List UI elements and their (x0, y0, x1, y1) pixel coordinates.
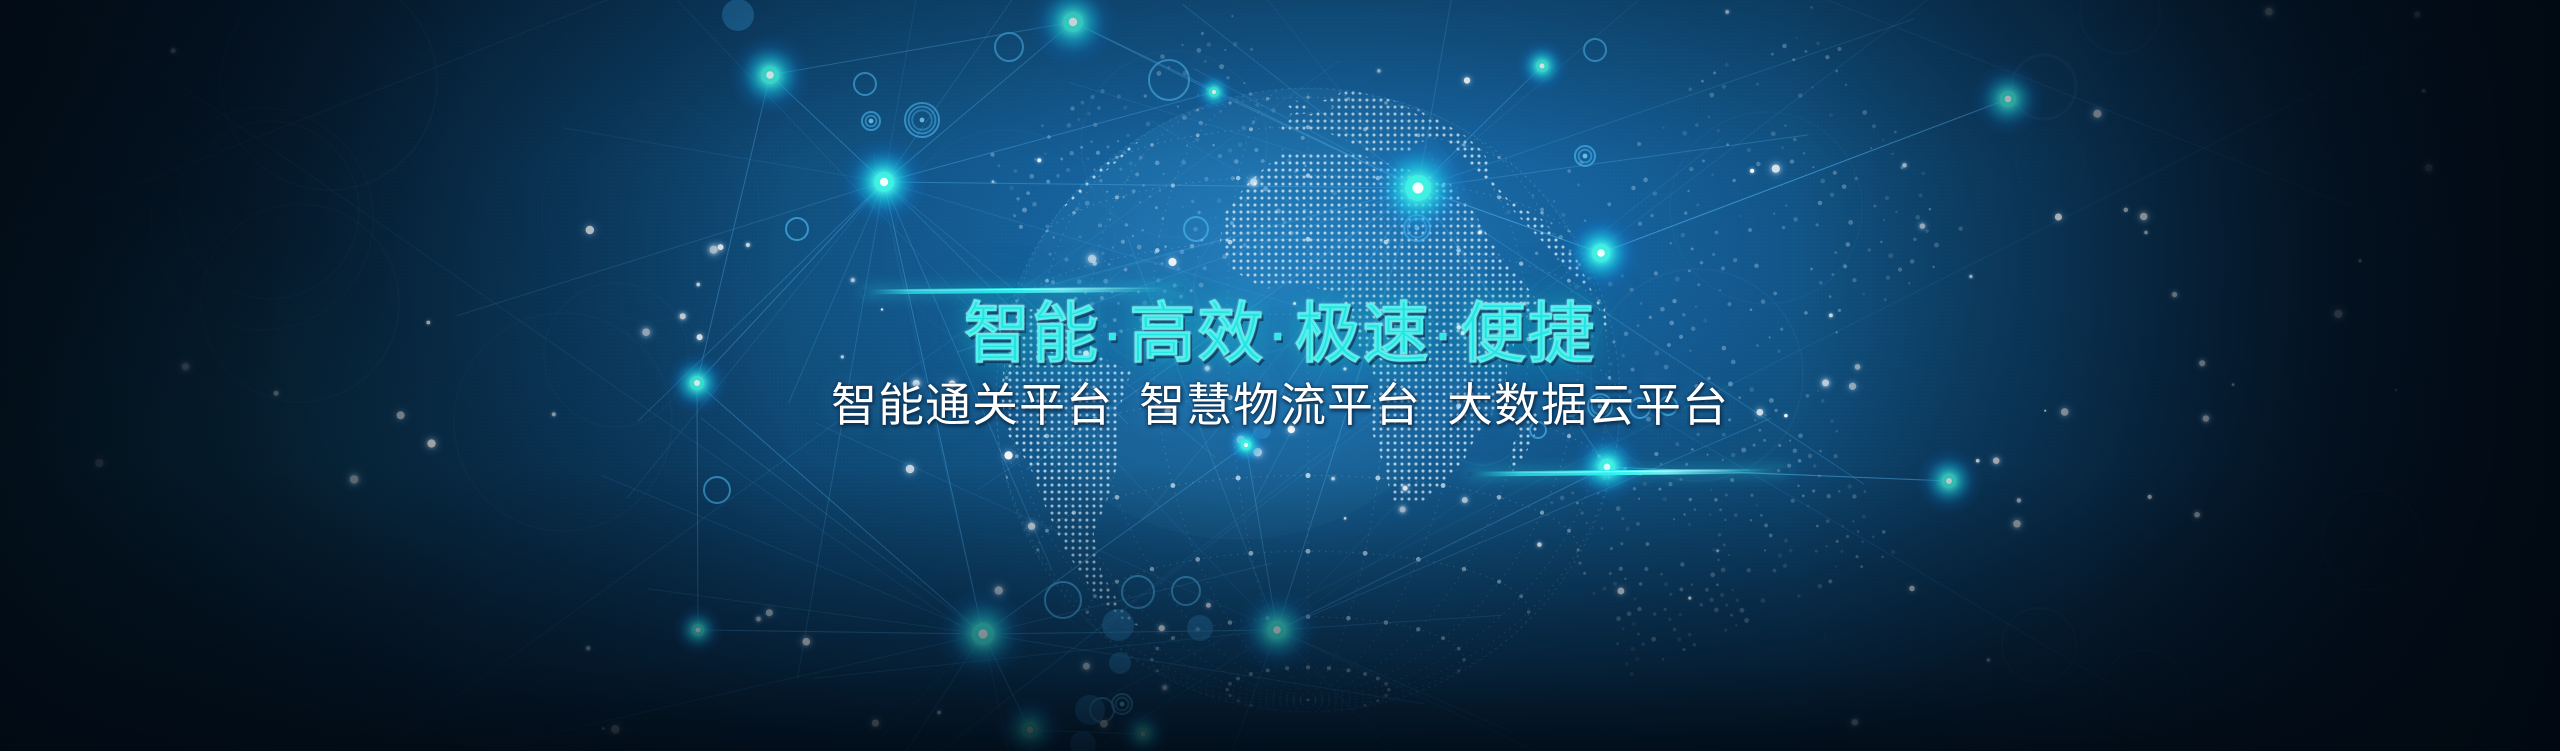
ring-marker-5 (786, 218, 808, 240)
hero-headline: 智能·高效·极速·便捷 (0, 300, 2560, 366)
network-node-3 (1362, 132, 1474, 244)
headline-word-0: 智能 (962, 296, 1102, 370)
headline-word-3: 便捷 (1458, 296, 1598, 370)
ring-marker-0 (854, 73, 876, 95)
ring-marker-16 (995, 33, 1023, 61)
hero-text-block: 智能·高效·极速·便捷 智能通关平台智慧物流平台大数据云平台 (0, 300, 2560, 428)
headline-separator: · (1267, 310, 1292, 362)
network-node-12 (994, 694, 1066, 751)
subheadline-item-1: 智慧物流平台 (1139, 379, 1421, 431)
network-node-0 (1027, 0, 1119, 68)
ring-marker-4 (1184, 217, 1208, 241)
headline-word-2: 极速 (1293, 296, 1433, 370)
ring-marker-2 (905, 103, 939, 137)
network-node-8 (1915, 447, 1983, 515)
hero-subheadline: 智能通关平台智慧物流平台大数据云平台 (0, 382, 2560, 428)
headline-separator: · (1433, 310, 1458, 362)
ring-marker-17 (1045, 582, 1081, 618)
network-node-6 (1233, 586, 1321, 674)
network-node-7 (935, 586, 1031, 682)
subheadline-item-0: 智能通关平台 (831, 379, 1113, 431)
headline-word-1: 高效 (1127, 296, 1267, 370)
network-node-1 (728, 33, 812, 117)
accent-line-bottom (1468, 468, 1788, 476)
network-node-15 (1192, 70, 1236, 114)
ring-marker-1 (862, 112, 880, 130)
hero-banner: 智能·高效·极速·便捷 智能通关平台智慧物流平台大数据云平台 (0, 0, 2560, 751)
accent-line-top (862, 287, 1184, 295)
network-node-14 (672, 604, 724, 656)
network-node-10 (1970, 61, 2046, 137)
network-node-9 (1514, 38, 1570, 94)
ring-marker-9 (1122, 576, 1154, 608)
ring-marker-10 (1172, 577, 1200, 605)
ring-marker-18 (704, 477, 730, 503)
network-node-5 (1569, 429, 1645, 505)
ring-marker-7 (1575, 146, 1595, 166)
network-node-4 (1559, 211, 1643, 295)
subheadline-item-2: 大数据云平台 (1447, 379, 1729, 431)
ring-marker-3 (1149, 60, 1189, 100)
ring-marker-12 (1112, 694, 1132, 714)
ring-marker-11 (1090, 698, 1114, 722)
headline-separator: · (1102, 310, 1127, 362)
network-node-2 (838, 136, 930, 228)
ring-marker-8 (1584, 39, 1606, 61)
ring-marker-6 (1404, 215, 1430, 241)
network-node-13 (1115, 706, 1171, 751)
